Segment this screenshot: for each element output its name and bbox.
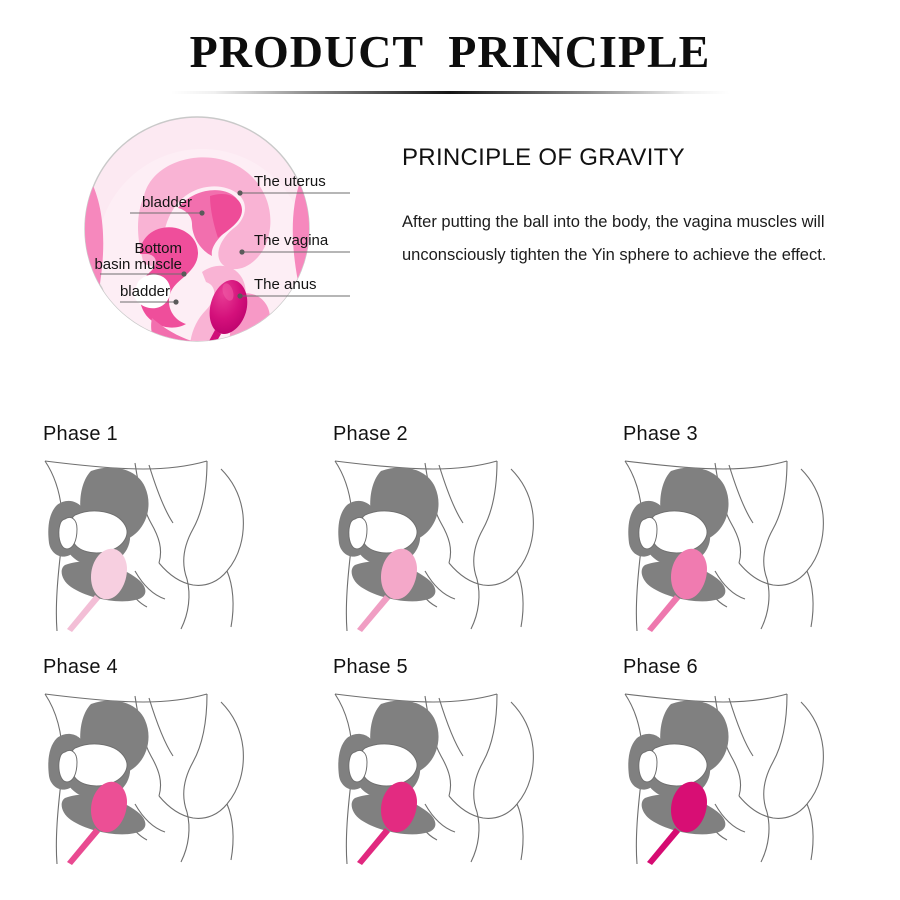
pelvis-illustration	[625, 461, 823, 631]
phase-label: Phase 2	[333, 423, 408, 446]
kegel-ball	[357, 549, 417, 632]
phase-cell: Phase 4	[15, 638, 305, 871]
label-the-anus: The anus	[254, 276, 317, 293]
gravity-paragraph: After putting the ball into the body, th…	[402, 206, 852, 272]
anatomy-diagram: The uterus The vagina The anus bladder B…	[82, 104, 352, 374]
phase-label: Phase 5	[333, 656, 408, 679]
pelvis-illustration	[335, 694, 533, 864]
phase-grid: Phase 1	[0, 405, 900, 871]
phase-label: Phase 1	[43, 423, 118, 446]
principle-overview-section: The uterus The vagina The anus bladder B…	[0, 94, 900, 384]
phase-label: Phase 3	[623, 423, 698, 446]
phase-cell: Phase 1	[15, 405, 305, 638]
kegel-ball	[67, 782, 127, 865]
label-bladder-upper: bladder	[142, 194, 192, 211]
phase-figure	[611, 453, 861, 633]
kegel-ball	[647, 782, 707, 865]
phase-figure	[611, 686, 861, 866]
kegel-ball	[647, 549, 707, 632]
phase-figure	[321, 686, 571, 866]
phase-cell: Phase 3	[595, 405, 885, 638]
kegel-ball	[357, 782, 417, 865]
label-bladder-lower: bladder	[120, 283, 170, 300]
phase-figure	[31, 686, 281, 866]
kegel-ball	[67, 549, 127, 632]
gravity-heading: PRINCIPLE OF GRAVITY	[402, 144, 872, 172]
label-bottom-basin-muscle-line2: basin muscle	[94, 256, 182, 273]
phase-label: Phase 6	[623, 656, 698, 679]
label-the-uterus: The uterus	[254, 173, 326, 190]
phase-cell: Phase 5	[305, 638, 595, 871]
pelvis-illustration	[335, 461, 533, 631]
phase-figure	[31, 453, 281, 633]
label-bottom-basin-muscle-line1: Bottom	[134, 240, 182, 257]
label-the-vagina: The vagina	[254, 232, 329, 249]
page-title: PRODUCT PRINCIPLE	[0, 0, 900, 79]
phase-cell: Phase 2	[305, 405, 595, 638]
pelvis-illustration	[45, 461, 243, 631]
pelvis-illustration	[45, 694, 243, 864]
gravity-text-block: PRINCIPLE OF GRAVITY After putting the b…	[402, 144, 872, 272]
phase-label: Phase 4	[43, 656, 118, 679]
phase-cell: Phase 6	[595, 638, 885, 871]
pelvis-illustration	[625, 694, 823, 864]
anatomy-diagram-svg: The uterus The vagina The anus bladder B…	[82, 104, 352, 374]
phase-figure	[321, 453, 571, 633]
